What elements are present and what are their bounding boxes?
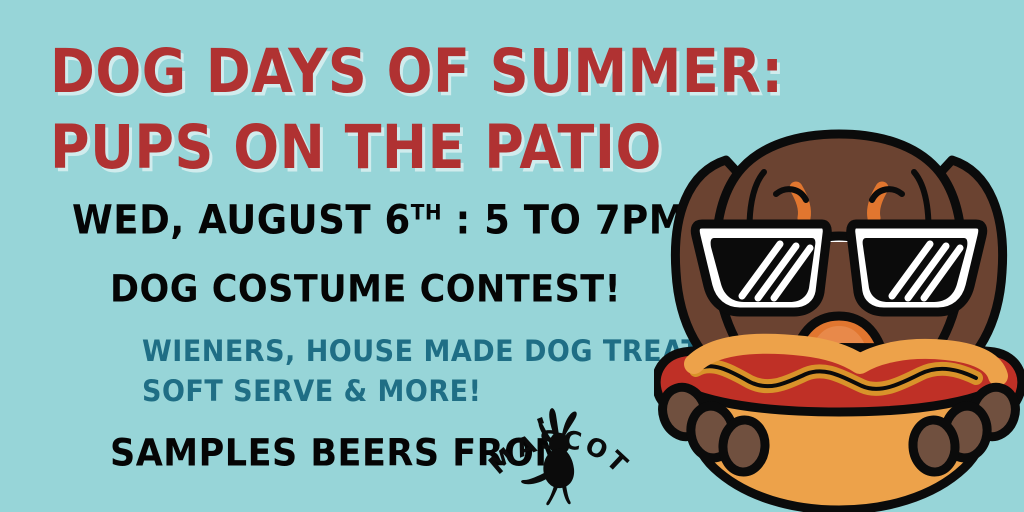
menu-line-2: SOFT SERVE & MORE! xyxy=(142,375,481,408)
mascot-brand-logo: MASCOT xyxy=(484,388,634,506)
date-prefix: WED, AUGUST 6 xyxy=(72,197,411,243)
dachshund-with-hotdog-illustration xyxy=(654,120,1024,512)
date-ordinal-suffix: TH xyxy=(411,199,442,225)
menu-line-1: WIENERS, HOUSE MADE DOG TREATS, xyxy=(142,335,731,368)
event-poster: DOG DAYS OF SUMMER: PUPS ON THE PATIO WE… xyxy=(0,0,1024,512)
headline-line-1: DOG DAYS OF SUMMER: xyxy=(50,36,783,107)
time-range: : 5 TO 7PM xyxy=(442,197,686,243)
event-date-time: WED, AUGUST 6TH : 5 TO 7PM xyxy=(72,197,686,243)
headline-line-2: PUPS ON THE PATIO xyxy=(50,112,662,183)
costume-contest-label: DOG COSTUME CONTEST! xyxy=(110,268,621,311)
